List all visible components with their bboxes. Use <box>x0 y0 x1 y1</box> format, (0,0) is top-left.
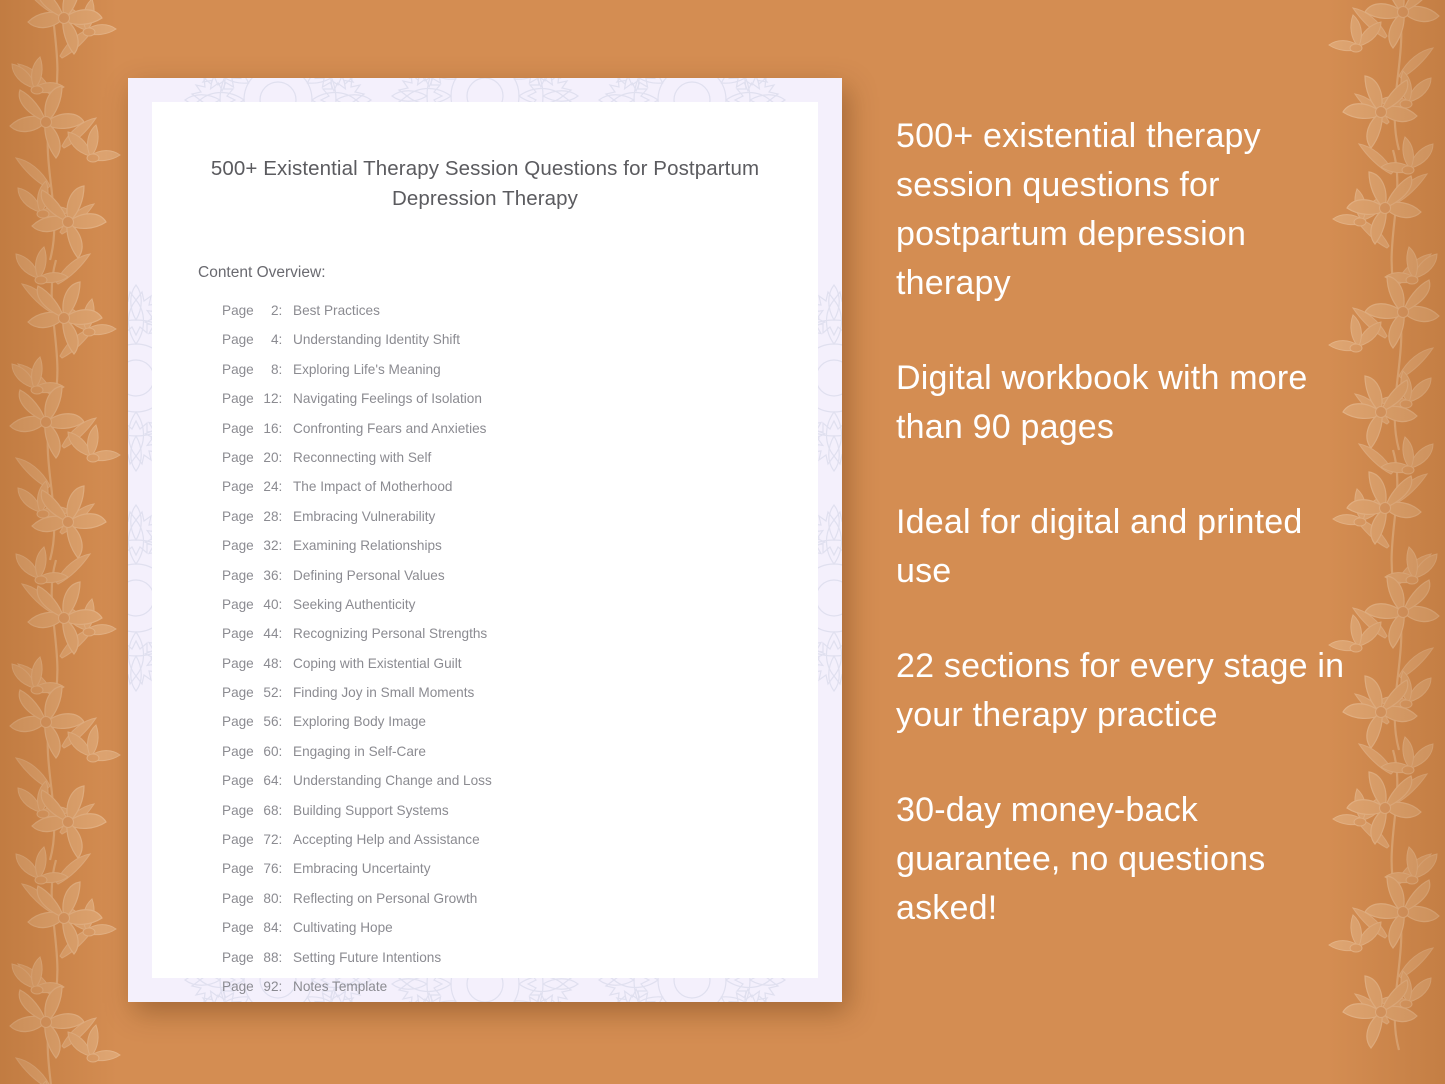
toc-page-word: Page <box>222 979 254 994</box>
toc-page-number: 64 <box>258 773 279 788</box>
toc-colon: : <box>279 656 283 671</box>
toc-entry-page: Page 84: <box>222 920 284 935</box>
toc-page-number: 60 <box>258 744 279 759</box>
toc-entry-title: Finding Joy in Small Moments <box>284 685 474 700</box>
toc-entry: Page 52:Finding Joy in Small Moments <box>222 685 818 714</box>
content-overview-label: Content Overview: <box>152 214 818 283</box>
toc-colon: : <box>279 597 283 612</box>
promo-line: 30-day money-back guarantee, no question… <box>896 786 1348 933</box>
toc-page-number: 36 <box>258 568 279 583</box>
promo-feature-list: 500+ existential therapy session questio… <box>896 112 1348 933</box>
toc-page-number: 48 <box>258 656 279 671</box>
toc-entry-title: Reconnecting with Self <box>284 450 431 465</box>
toc-page-number: 12 <box>258 391 279 406</box>
toc-colon: : <box>279 773 283 788</box>
toc-page-word: Page <box>222 773 254 788</box>
toc-colon: : <box>279 421 283 436</box>
toc-entry-page: Page 64: <box>222 773 284 788</box>
toc-entry-title: Confronting Fears and Anxieties <box>284 421 486 436</box>
toc-entry: Page 84:Cultivating Hope <box>222 920 818 949</box>
toc-page-number: 56 <box>258 714 279 729</box>
promo-line: 500+ existential therapy session questio… <box>896 112 1348 308</box>
toc-colon: : <box>279 950 283 965</box>
toc-entry: Page 68:Building Support Systems <box>222 803 818 832</box>
toc-entry-title: Understanding Change and Loss <box>284 773 492 788</box>
toc-colon: : <box>279 891 283 906</box>
toc-entry-page: Page 44: <box>222 626 284 641</box>
toc-colon: : <box>279 979 283 994</box>
toc-page-word: Page <box>222 832 254 847</box>
toc-entry: Page 64:Understanding Change and Loss <box>222 773 818 802</box>
toc-entry-title: Accepting Help and Assistance <box>284 832 480 847</box>
toc-colon: : <box>279 538 283 553</box>
toc-page-number: 72 <box>258 832 279 847</box>
toc-entry-title: The Impact of Motherhood <box>284 479 452 494</box>
toc-page-word: Page <box>222 656 254 671</box>
toc-entry-page: Page 60: <box>222 744 284 759</box>
toc-colon: : <box>279 920 283 935</box>
toc-page-word: Page <box>222 861 254 876</box>
toc-entry-page: Page 36: <box>222 568 284 583</box>
toc-entry-page: Page 88: <box>222 950 284 965</box>
promo-line: Digital workbook with more than 90 pages <box>896 354 1348 452</box>
toc-entry-page: Page 4: <box>222 332 284 347</box>
toc-entry-page: Page 48: <box>222 656 284 671</box>
poster-canvas: 500+ Existential Therapy Session Questio… <box>0 0 1445 1084</box>
page-title: 500+ Existential Therapy Session Questio… <box>152 102 818 214</box>
toc-page-word: Page <box>222 950 254 965</box>
toc-entry-page: Page 12: <box>222 391 284 406</box>
toc-entry-title: Embracing Uncertainty <box>284 861 431 876</box>
toc-page-word: Page <box>222 509 254 524</box>
toc-entry-title: Cultivating Hope <box>284 920 393 935</box>
toc-entry-title: Defining Personal Values <box>284 568 445 583</box>
workbook-preview-card: 500+ Existential Therapy Session Questio… <box>128 78 842 1002</box>
toc-page-word: Page <box>222 479 254 494</box>
toc-entry-page: Page 2: <box>222 303 284 318</box>
toc-entry-title: Examining Relationships <box>284 538 442 553</box>
toc-page-number: 80 <box>258 891 279 906</box>
toc-entry-title: Coping with Existential Guilt <box>284 656 462 671</box>
toc-entry-title: Seeking Authenticity <box>284 597 415 612</box>
toc-entry: Page 80:Reflecting on Personal Growth <box>222 891 818 920</box>
toc-colon: : <box>279 861 283 876</box>
toc-entry-title: Understanding Identity Shift <box>284 332 460 347</box>
toc-entry: Page 12:Navigating Feelings of Isolation <box>222 391 818 420</box>
toc-entry-title: Setting Future Intentions <box>284 950 441 965</box>
toc-entry-title: Exploring Body Image <box>284 714 426 729</box>
toc-page-word: Page <box>222 303 254 318</box>
toc-entry-title: Best Practices <box>284 303 380 318</box>
toc-entry-page: Page 56: <box>222 714 284 729</box>
toc-entry: Page 44:Recognizing Personal Strengths <box>222 626 818 655</box>
toc-page-number: 68 <box>258 803 279 818</box>
toc-page-word: Page <box>222 803 254 818</box>
toc-entry: Page 92:Notes Template <box>222 979 818 1002</box>
toc-entry: Page 72:Accepting Help and Assistance <box>222 832 818 861</box>
toc-entry-page: Page 8: <box>222 362 284 377</box>
toc-page-word: Page <box>222 891 254 906</box>
toc-page-word: Page <box>222 626 254 641</box>
toc-page-number: 24 <box>258 479 279 494</box>
toc-entry-page: Page 92: <box>222 979 284 994</box>
toc-entry-page: Page 76: <box>222 861 284 876</box>
promo-line: Ideal for digital and printed use <box>896 498 1348 596</box>
toc-entry-page: Page 28: <box>222 509 284 524</box>
toc-entry-title: Embracing Vulnerability <box>284 509 435 524</box>
toc-page-word: Page <box>222 714 254 729</box>
toc-colon: : <box>279 303 283 318</box>
toc-entry: Page 88:Setting Future Intentions <box>222 950 818 979</box>
toc-page-word: Page <box>222 332 254 347</box>
toc-entry-page: Page 24: <box>222 479 284 494</box>
toc-entry: Page 20:Reconnecting with Self <box>222 450 818 479</box>
toc-entry: Page 56:Exploring Body Image <box>222 714 818 743</box>
toc-page-number: 16 <box>258 421 279 436</box>
toc-colon: : <box>279 626 283 641</box>
toc-entry: Page 16:Confronting Fears and Anxieties <box>222 421 818 450</box>
toc-colon: : <box>279 362 283 377</box>
toc-entry-title: Exploring Life's Meaning <box>284 362 441 377</box>
toc-entry-page: Page 68: <box>222 803 284 818</box>
toc-page-number: 44 <box>258 626 279 641</box>
toc-entry: Page 2:Best Practices <box>222 303 818 332</box>
toc-entry-page: Page 20: <box>222 450 284 465</box>
toc-page-number: 20 <box>258 450 279 465</box>
toc-entry: Page 32:Examining Relationships <box>222 538 818 567</box>
toc-entry: Page 4:Understanding Identity Shift <box>222 332 818 361</box>
toc-page-word: Page <box>222 685 254 700</box>
toc-colon: : <box>279 744 283 759</box>
toc-entry-page: Page 32: <box>222 538 284 553</box>
toc-page-number: 88 <box>258 950 279 965</box>
toc-page-word: Page <box>222 568 254 583</box>
toc-page-number: 4 <box>258 332 279 347</box>
promo-line: 22 sections for every stage in your ther… <box>896 642 1348 740</box>
toc-page-word: Page <box>222 421 254 436</box>
toc-colon: : <box>279 803 283 818</box>
toc-page-word: Page <box>222 597 254 612</box>
toc-page-word: Page <box>222 362 254 377</box>
toc-entry: Page 8:Exploring Life's Meaning <box>222 362 818 391</box>
toc-entry: Page 40:Seeking Authenticity <box>222 597 818 626</box>
toc-page-number: 28 <box>258 509 279 524</box>
toc-entry: Page 28:Embracing Vulnerability <box>222 509 818 538</box>
toc-entry-page: Page 40: <box>222 597 284 612</box>
toc-entry-title: Recognizing Personal Strengths <box>284 626 487 641</box>
toc-page-number: 76 <box>258 861 279 876</box>
toc-page-number: 92 <box>258 979 279 994</box>
toc-page-number: 84 <box>258 920 279 935</box>
toc-entry-title: Engaging in Self-Care <box>284 744 426 759</box>
toc-entry-page: Page 72: <box>222 832 284 847</box>
toc-page-number: 8 <box>258 362 279 377</box>
document-page: 500+ Existential Therapy Session Questio… <box>152 102 818 978</box>
toc-colon: : <box>279 685 283 700</box>
toc-page-word: Page <box>222 450 254 465</box>
toc-page-number: 52 <box>258 685 279 700</box>
toc-page-number: 32 <box>258 538 279 553</box>
toc-colon: : <box>279 332 283 347</box>
toc-entry-title: Notes Template <box>284 979 387 994</box>
toc-page-word: Page <box>222 744 254 759</box>
toc-entry: Page 36:Defining Personal Values <box>222 568 818 597</box>
toc-page-word: Page <box>222 391 254 406</box>
toc-colon: : <box>279 714 283 729</box>
toc-entry: Page 60:Engaging in Self-Care <box>222 744 818 773</box>
toc-entry: Page 48:Coping with Existential Guilt <box>222 656 818 685</box>
toc-colon: : <box>279 391 283 406</box>
toc-entry-title: Building Support Systems <box>284 803 449 818</box>
toc-entry-title: Navigating Feelings of Isolation <box>284 391 482 406</box>
toc-colon: : <box>279 832 283 847</box>
toc-colon: : <box>279 568 283 583</box>
toc-entry: Page 76:Embracing Uncertainty <box>222 861 818 890</box>
toc-entry: Page 24:The Impact of Motherhood <box>222 479 818 508</box>
toc-entry-title: Reflecting on Personal Growth <box>284 891 477 906</box>
toc-page-number: 2 <box>258 303 279 318</box>
toc-entry-page: Page 16: <box>222 421 284 436</box>
toc-colon: : <box>279 450 283 465</box>
toc-colon: : <box>279 479 283 494</box>
toc-page-number: 40 <box>258 597 279 612</box>
toc-entry-page: Page 80: <box>222 891 284 906</box>
toc-page-word: Page <box>222 920 254 935</box>
toc-colon: : <box>279 509 283 524</box>
floral-border-left-icon <box>0 0 122 1084</box>
table-of-contents: Page 2:Best PracticesPage 4:Understandin… <box>152 283 818 1002</box>
toc-entry-page: Page 52: <box>222 685 284 700</box>
toc-page-word: Page <box>222 538 254 553</box>
